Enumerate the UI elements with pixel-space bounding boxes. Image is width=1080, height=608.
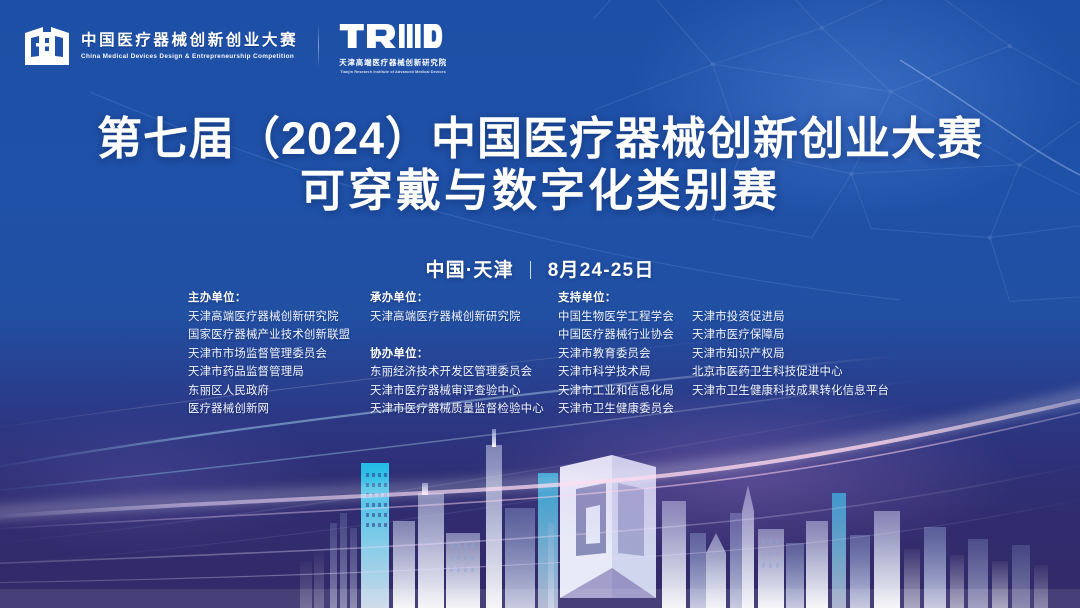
institute-name-en: Tianjin Research Institute of Advanced M… [339,70,447,74]
event-date: 8月24-25日 [548,260,655,281]
supporter-heading: 支持单位： [558,289,692,308]
list-item: 天津市医疗器械质量监督检验中心 [370,400,558,419]
logo-divider [318,24,319,68]
organizer-heading: 主办单位： [188,289,370,308]
supporter-column: 支持单位： 中国生物医学工程学会 中国医疗器械行业协会 天津市教育委员会 天津市… [558,289,692,419]
institute-name-cn: 天津高端医疗器械创新研究院 [339,57,447,68]
spacer [370,326,558,345]
supporter-column-continued: 天津市投资促进局 天津市医疗保障局 天津市知识产权局 北京市医药卫生科技促进中心… [692,289,902,400]
poster-canvas: 中国医疗器械创新创业大赛 China Medical Devices Desig… [0,0,1080,608]
list-item: 北京市医药卫生科技促进中心 [692,363,902,382]
organizer-column: 主办单位： 天津高端医疗器械创新研究院 国家医疗器械产业技术创新联盟 天津市市场… [188,289,370,419]
list-item: 天津市投资促进局 [692,308,902,327]
list-item: 天津高端医疗器械创新研究院 [370,308,558,327]
competition-logo: 中国医疗器械创新创业大赛 China Medical Devices Desig… [22,23,298,69]
open-book-door-icon [22,23,72,69]
undertaker-column: 承办单位： 天津高端医疗器械创新研究院 协办单位： 东丽经济技术开发区管理委员会… [370,289,558,419]
list-item: 天津市医疗保障局 [692,326,902,345]
title-line-1: 第七届（2024）中国医疗器械创新创业大赛 [0,113,1080,165]
institute-logo: 天津高端医疗器械创新研究院 Tianjin Research Institute… [339,18,447,74]
list-item: 国家医疗器械产业技术创新联盟 [188,326,370,345]
list-item: 东丽区人民政府 [188,382,370,401]
trmd-wordmark-icon [339,18,443,54]
list-item: 天津市工业和信息化局 [558,382,692,401]
event-location: 中国·天津 [425,260,513,281]
list-item: 东丽经济技术开发区管理委员会 [370,363,558,382]
list-item: 天津市教育委员会 [558,345,692,364]
list-item: 天津高端医疗器械创新研究院 [188,308,370,327]
undertaker-heading: 承办单位： [370,289,558,308]
logo-bar: 中国医疗器械创新创业大赛 China Medical Devices Desig… [0,0,1080,92]
list-item: 中国医疗器械行业协会 [558,326,692,345]
title-line-2: 可穿戴与数字化类别赛 [0,165,1080,217]
page-title: 第七届（2024）中国医疗器械创新创业大赛 可穿戴与数字化类别赛 [0,113,1080,217]
list-item: 天津市市场监督管理委员会 [188,345,370,364]
list-item: 天津市医疗器械审评查验中心 [370,382,558,401]
list-item: 医疗器械创新网 [188,400,370,419]
event-meta: 中国·天津 8月24-25日 [0,255,1080,282]
competition-name-en: China Medical Devices Design & Entrepren… [81,53,298,61]
list-item: 天津市知识产权局 [692,345,902,364]
list-item: 天津市卫生健康科技成果转化信息平台 [692,382,902,401]
list-item: 天津市科学技术局 [558,363,692,382]
competition-logo-text: 中国医疗器械创新创业大赛 China Medical Devices Desig… [81,32,298,61]
meta-separator [530,261,531,279]
coorganizer-heading: 协办单位： [370,345,558,364]
list-item: 天津市卫生健康委员会 [558,400,692,419]
competition-name-cn: 中国医疗器械创新创业大赛 [81,32,298,50]
list-item: 天津市药品监督管理局 [188,363,370,382]
organizations-block: 主办单位： 天津高端医疗器械创新研究院 国家医疗器械产业技术创新联盟 天津市市场… [188,289,902,419]
list-item: 中国生物医学工程学会 [558,308,692,327]
